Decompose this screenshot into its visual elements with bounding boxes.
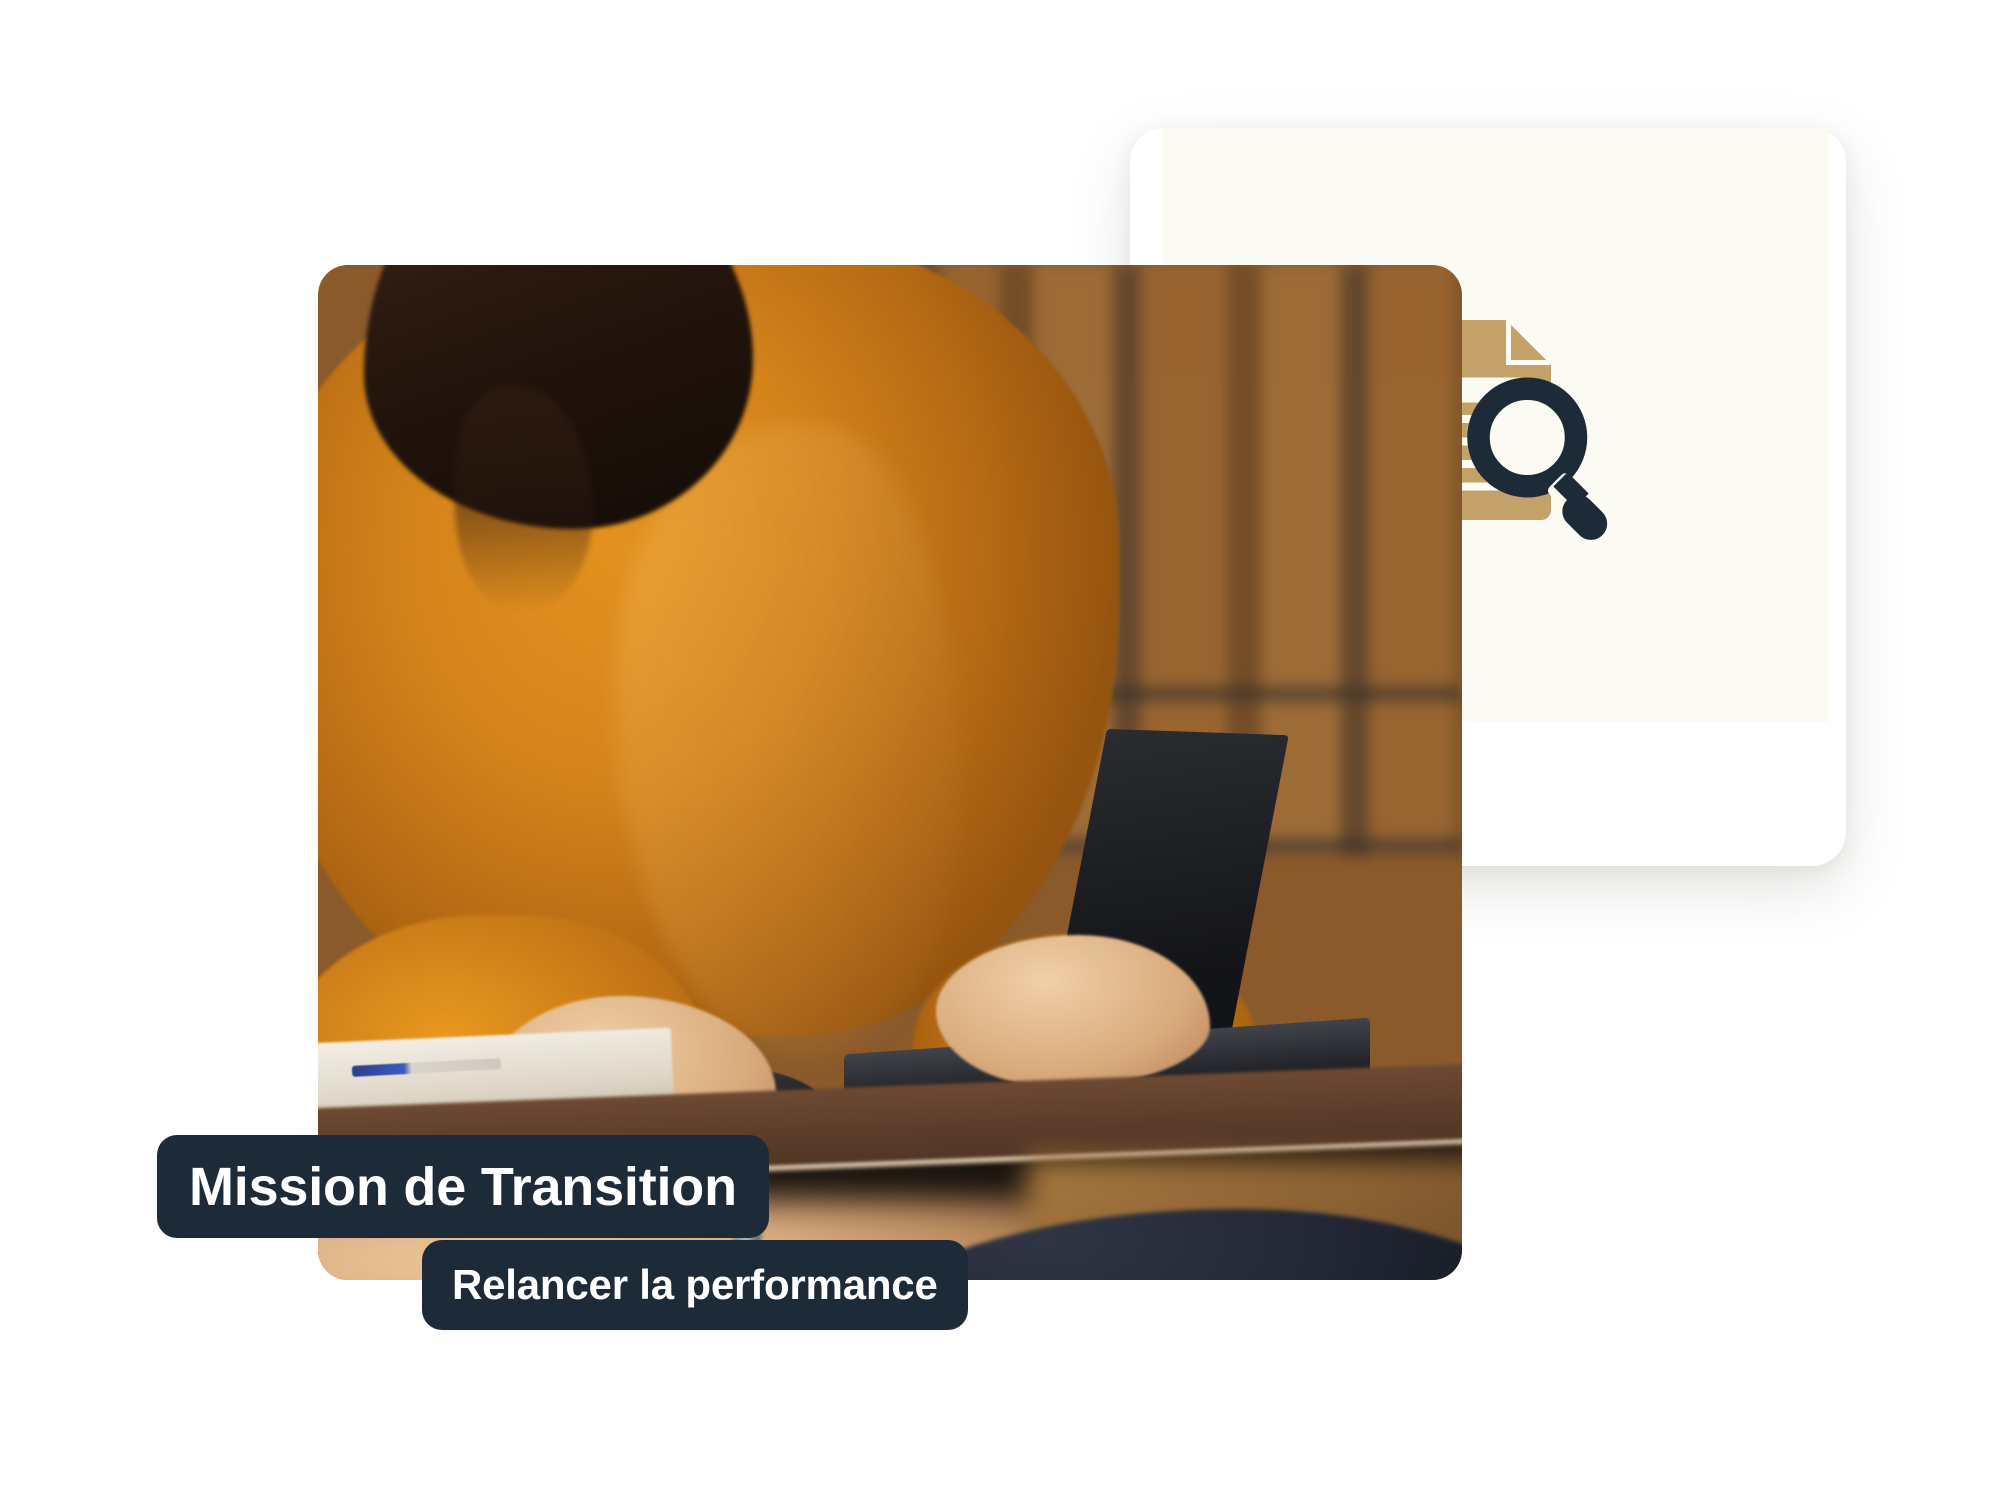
photo-background (318, 265, 1462, 1280)
photo-woman-working-laptop (318, 265, 1462, 1280)
page-root: Mission de Transition Relancer la perfor… (0, 0, 2000, 1500)
badge-mission-title: Mission de Transition (157, 1135, 769, 1238)
badge-mission-subtitle: Relancer la performance (422, 1240, 968, 1330)
